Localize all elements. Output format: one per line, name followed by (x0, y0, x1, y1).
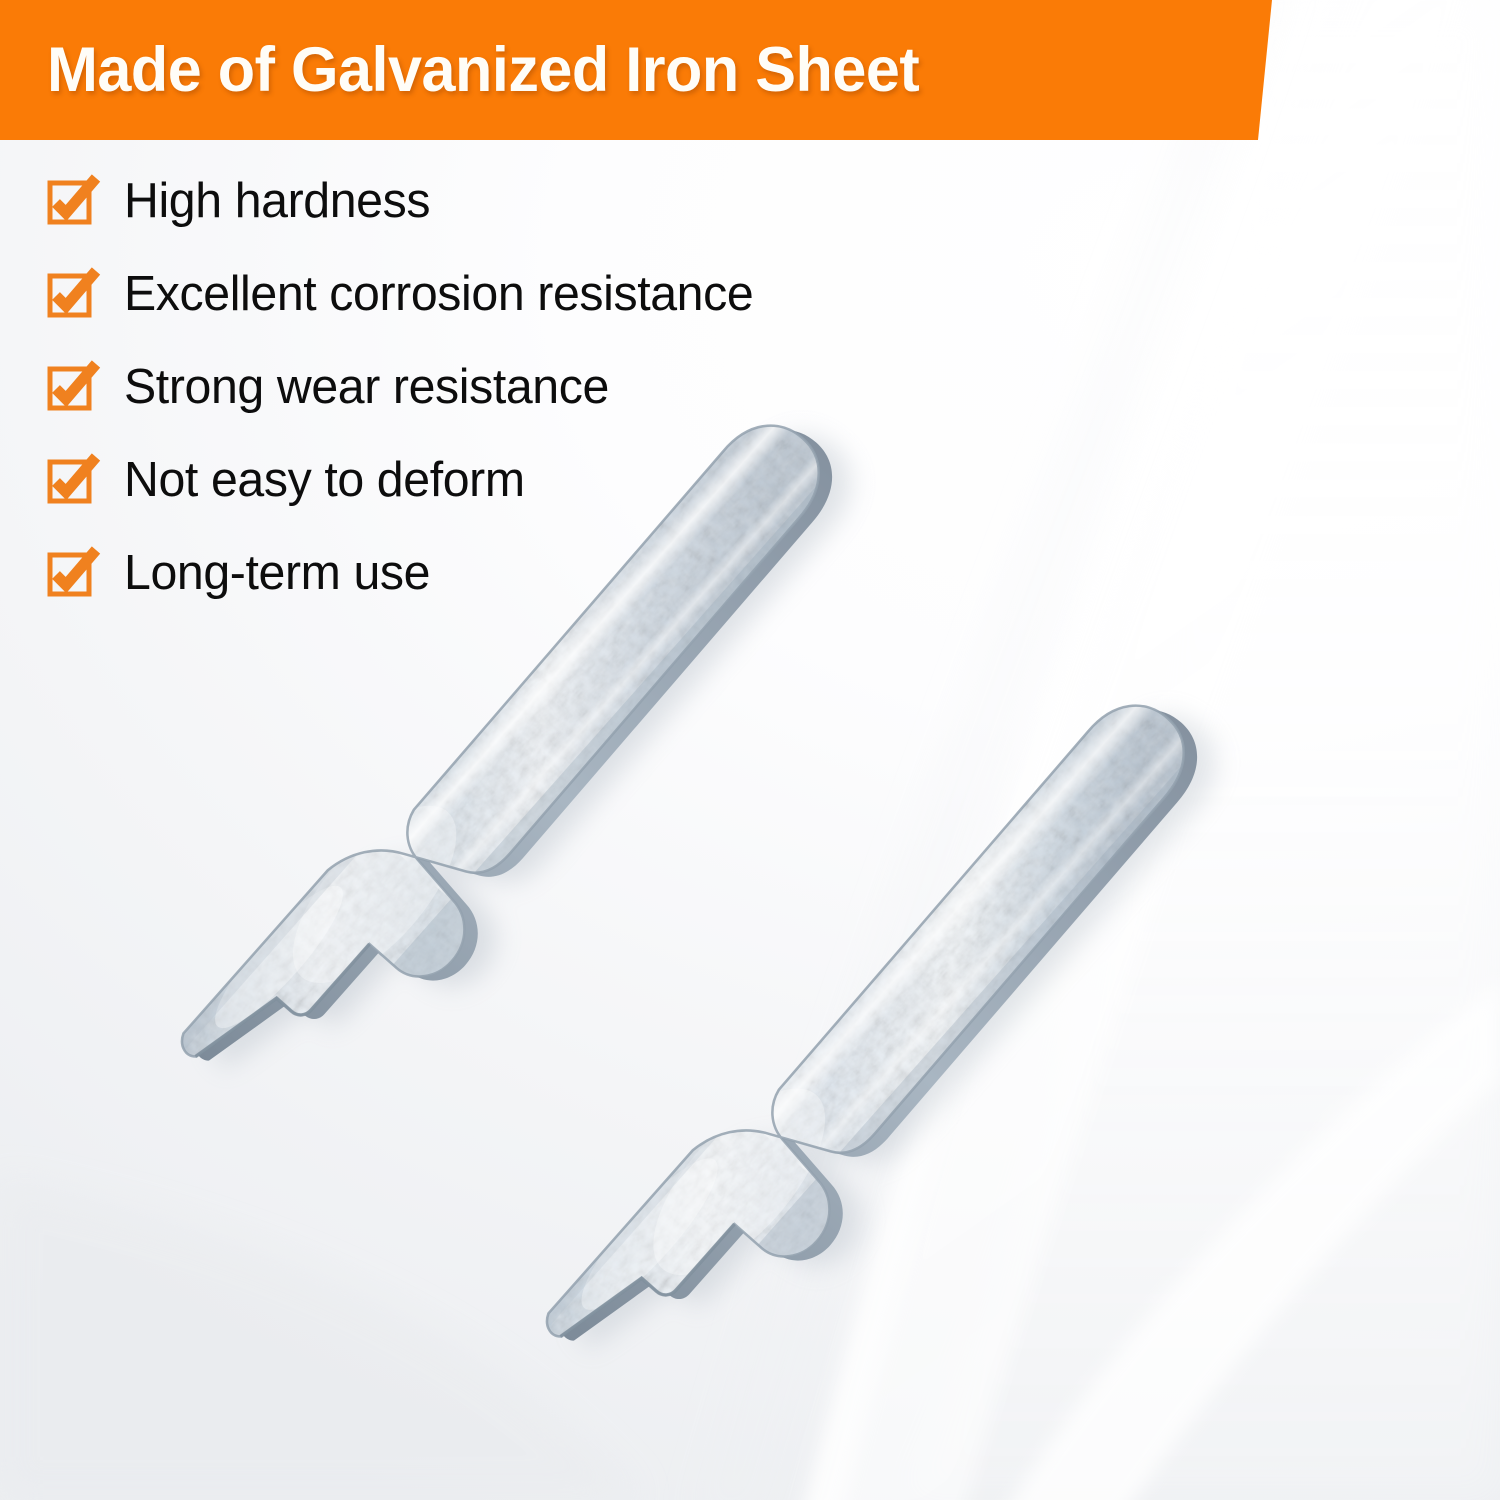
list-item: Not easy to deform (48, 451, 1028, 509)
feature-label: Strong wear resistance (124, 361, 609, 413)
checkbox-check-icon (48, 550, 94, 596)
checkbox-check-icon (48, 457, 94, 503)
checkbox-check-icon (48, 271, 94, 317)
feature-label: High hardness (124, 175, 430, 227)
product-feature-image: Made of Galvanized Iron Sheet High hardn… (0, 0, 1500, 1500)
list-item: Excellent corrosion resistance (48, 265, 1028, 323)
checkbox-check-icon (48, 178, 94, 224)
list-item: Long-term use (48, 544, 1028, 602)
feature-list: High hardness Excellent corrosion resist… (48, 172, 1028, 637)
feature-label: Long-term use (124, 547, 430, 599)
feature-label: Excellent corrosion resistance (124, 268, 753, 320)
checkbox-check-icon (48, 364, 94, 410)
page-title: Made of Galvanized Iron Sheet (47, 22, 919, 118)
header-banner: Made of Galvanized Iron Sheet (0, 0, 1290, 140)
list-item: Strong wear resistance (48, 358, 1028, 416)
feature-label: Not easy to deform (124, 454, 525, 506)
list-item: High hardness (48, 172, 1028, 230)
